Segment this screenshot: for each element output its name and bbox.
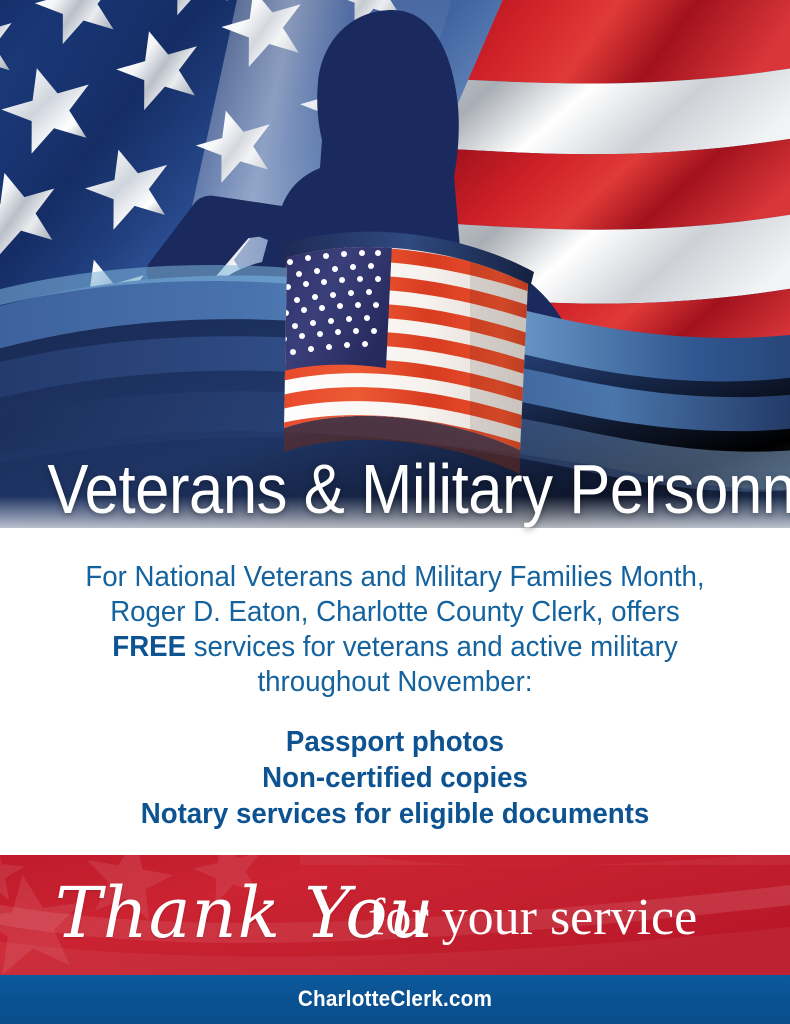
intro-line-2: Roger D. Eaton, Charlotte County Clerk, … (110, 596, 680, 628)
service-item: Notary services for eligible documents (31, 796, 759, 832)
services-list: Passport photos Non-certified copies Not… (31, 724, 759, 832)
intro-line-1: For National Veterans and Military Famil… (85, 561, 704, 593)
intro-line-4: throughout November: (257, 666, 532, 698)
service-item: Non-certified copies (31, 760, 759, 796)
thank-you-banner: Thank You for your service (0, 855, 790, 975)
footer-bar: CharlotteClerk.com (0, 975, 790, 1024)
poster: Veterans & Military Personnel For Nation… (0, 0, 790, 1024)
for-your-service-text: for your service (368, 889, 697, 947)
hero-image: Veterans & Military Personnel (0, 0, 790, 540)
service-item: Passport photos (31, 724, 759, 760)
page-title: Veterans & Military Personnel (47, 452, 742, 526)
content-section: For National Veterans and Military Famil… (0, 540, 790, 855)
intro-line-3: services for veterans and active militar… (186, 631, 678, 663)
website-url[interactable]: CharlotteClerk.com (24, 986, 767, 1012)
free-emphasis: FREE (112, 631, 186, 663)
banner-text: Thank You for your service (0, 855, 790, 975)
intro-paragraph: For National Veterans and Military Famil… (31, 560, 759, 700)
